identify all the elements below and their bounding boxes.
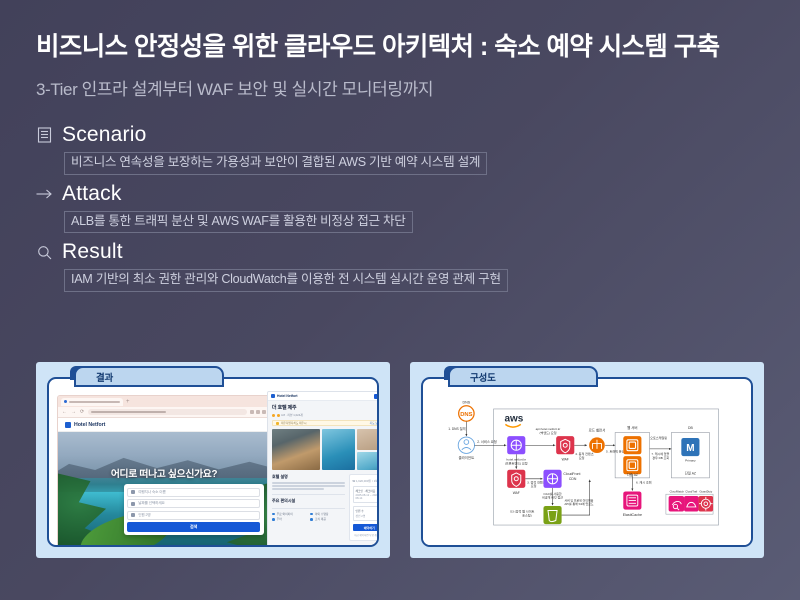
location-icon — [131, 490, 135, 494]
gallery-photo-2[interactable] — [357, 429, 377, 450]
edge-label-3b: 요청 — [531, 483, 537, 488]
panel-architecture-frame: aws DNS DNS 1. DNS 질의 클라이언트 — [421, 377, 753, 547]
amenity-item: 조식 제공 — [310, 517, 344, 521]
booking-card: ₩ 1,620,000원 / 1박 체크인 · 체크아웃 2025-08-12 … — [349, 474, 377, 541]
amenity-label: 조식 제공 — [315, 517, 326, 521]
section-attack-head: Attack — [36, 181, 800, 207]
site-header: Hotel Netfort — [58, 418, 270, 432]
waf-front-label: WAF — [513, 491, 520, 495]
panel-result-frame: + ← → ⟳ Hot — [47, 377, 379, 547]
guardduty-label: GuardDuty — [699, 489, 712, 493]
guest-field-label: 인원 수 — [356, 509, 377, 513]
browser-toolbar-icons — [250, 410, 266, 414]
detail-columns: 호텔 설명 주요 편의시설 무료 와이파 — [272, 474, 377, 541]
amenities-heading: 주요 편의시설 — [272, 498, 345, 504]
browser-tab-title — [69, 401, 120, 403]
section-attack-label: Attack — [62, 182, 122, 206]
site-logo-icon — [65, 422, 71, 428]
rating-text: 4.8 · 리뷰 1,024개 — [281, 413, 303, 417]
section-scenario-description: 비즈니스 연속성을 보장하는 가용성과 보안이 결합된 AWS 기반 예약 시스… — [64, 152, 487, 175]
hero-banner: 어디로 떠나고 싶으신가요? 여행지나 숙소 이름 날짜를 선택하세요 — [58, 432, 270, 545]
date-field-value: 2025-08-12 ~ 2025-08-14 — [356, 494, 377, 500]
overview-paragraph — [272, 482, 345, 490]
address-text: 제주특별자치도 제주시 — [281, 421, 306, 425]
slide-header: 비즈니스 안정성을 위한 클라우드 아키텍처 : 숙소 예약 시스템 구축 3-… — [0, 0, 800, 100]
date-field[interactable]: 체크인 · 체크아웃 2025-08-12 ~ 2025-08-14 — [353, 486, 377, 503]
check-icon — [272, 513, 275, 516]
panel-architecture: aws DNS DNS 1. DNS 질의 클라이언트 — [410, 362, 764, 558]
book-note: 지금 예약하면 무료 취소 가능 — [353, 533, 377, 537]
section-result-head: Result — [36, 239, 800, 265]
guest-field[interactable]: 인원 수 성인 2명 — [353, 506, 377, 521]
browser-tab[interactable] — [61, 398, 123, 406]
edge-label-1: 1. DNS 질의 — [448, 426, 465, 431]
divider — [272, 494, 345, 495]
panel-result-tab[interactable]: 결과 — [74, 366, 224, 387]
address-bar[interactable] — [88, 409, 247, 415]
panel-row: + ← → ⟳ Hot — [36, 362, 764, 558]
pin-icon — [276, 422, 279, 425]
panel-architecture-body: aws DNS DNS 1. DNS 질의 클라이언트 — [423, 389, 751, 545]
section-attack: Attack ALB를 통한 트래픽 분산 및 AWS WAF를 활용한 비정상… — [36, 181, 800, 234]
divider — [272, 508, 345, 509]
price-value: ₩ 1,620,000원 — [353, 479, 371, 483]
price: ₩ 1,620,000원 / 1박 — [353, 478, 377, 483]
cloudwatch-label: CloudWatch — [670, 489, 685, 493]
panel-architecture-tab[interactable]: 구성도 — [448, 366, 598, 387]
section-attack-description: ALB를 통한 트래픽 분산 및 AWS WAF를 활용한 비정상 접근 차단 — [64, 211, 413, 234]
amenity-item: 무료 와이파이 — [272, 512, 306, 516]
search-card: 여행지나 숙소 이름 날짜를 선택하세요 인원 2명 검색 — [124, 484, 264, 535]
profile-icon[interactable] — [262, 410, 266, 414]
waf-api-label: WAF — [562, 458, 569, 462]
dns-label: DNS — [463, 401, 471, 405]
star-icon — [272, 414, 275, 417]
detail-description-column: 호텔 설명 주요 편의시설 무료 와이파 — [272, 474, 345, 541]
overview-heading: 호텔 설명 — [272, 474, 345, 480]
upload-note-2: API를 통해 S3에 업로드 — [564, 501, 594, 506]
cdn-label: CDN — [569, 477, 577, 481]
elasticache-label: ElastiCache — [623, 513, 642, 517]
panel-architecture-tab-label: 구성도 — [470, 370, 496, 384]
section-scenario-head: Scenario — [36, 122, 800, 148]
login-button[interactable]: 로그인 — [374, 394, 377, 399]
aws-architecture-diagram: aws DNS DNS 1. DNS 질의 클라이언트 — [423, 389, 751, 545]
search-guest-placeholder: 인원 2명 — [138, 513, 150, 518]
section-scenario: Scenario 비즈니스 연속성을 보장하는 가용성과 보안이 결합된 AWS… — [36, 122, 800, 175]
edge-label-6: 6. 캐시 조회 — [636, 479, 652, 484]
db-primary-label: Primary — [685, 459, 696, 463]
browser-window: + ← → ⟳ Hot — [57, 395, 271, 545]
search-date-placeholder: 날짜를 선택하세요 — [138, 501, 165, 506]
book-button[interactable]: 예약하기 — [353, 524, 377, 531]
alb-label: 로드 밸런서 — [589, 428, 606, 433]
section-result-label: Result — [62, 240, 123, 264]
search-icon — [36, 244, 53, 261]
search-destination-input[interactable]: 여행지나 숙소 이름 — [127, 488, 260, 497]
section-result-description: IAM 기반의 최소 권한 관리와 CloudWatch를 이용한 전 시스템 … — [64, 269, 508, 292]
new-tab-button[interactable]: + — [126, 399, 130, 405]
amenity-item: 야외 수영장 — [310, 512, 344, 516]
gallery-photo-main[interactable] — [272, 429, 320, 470]
edge-label-4b: 요청 — [579, 455, 585, 460]
section-result: Result IAM 기반의 최소 권한 관리와 CloudWatch를 이용한… — [36, 239, 800, 292]
map-link[interactable]: 지도 보기 보기 — [370, 421, 377, 425]
gallery-photo-4[interactable] — [357, 452, 377, 470]
edge-label-5: 5. 트래픽 분산 — [606, 448, 625, 453]
browser-urlbar: ← → ⟳ — [58, 407, 270, 418]
section-list: Scenario 비즈니스 연속성을 보장하는 가용성과 보안이 결합된 AWS… — [36, 122, 800, 292]
calendar-icon — [131, 502, 135, 506]
extensions-icon[interactable] — [250, 410, 254, 414]
detail-brand: Hotel Netfort — [277, 394, 298, 398]
search-button[interactable]: 검색 — [127, 522, 260, 532]
nav-reload-icon[interactable]: ⟳ — [80, 409, 85, 415]
amenity-label: 야외 수영장 — [315, 512, 329, 516]
api-label-2: (백엔드) 요청 — [539, 430, 556, 435]
check-icon — [310, 518, 313, 521]
arrow-right-icon — [36, 185, 53, 202]
nav-back-icon[interactable]: ← — [62, 409, 68, 415]
panel-result: + ← → ⟳ Hot — [36, 362, 390, 558]
gallery-photo-3[interactable] — [322, 429, 355, 470]
svg-text:DNS: DNS — [460, 412, 472, 418]
address-banner: 제주특별자치도 제주시 지도 보기 보기 — [272, 420, 377, 426]
detail-main: 더 호텔 제주 4.8 · 리뷰 1,024개 제주특별자치도 제주시 지도 보… — [268, 401, 377, 545]
check-icon — [310, 513, 313, 516]
booking-column: ₩ 1,620,000원 / 1박 체크인 · 체크아웃 2025-08-12 … — [349, 474, 377, 541]
cloudfront-label: CloudFront — [563, 472, 580, 476]
aws-logo-text: aws — [504, 414, 523, 425]
web-server-label: 웹 서버 — [627, 425, 637, 430]
amenity-item: 주차 — [272, 517, 306, 521]
svg-text:M: M — [686, 443, 694, 454]
star-icon — [277, 414, 280, 417]
cloudtrail-label: CloudTrail — [685, 489, 697, 493]
panel-result-tab-label: 결과 — [96, 370, 113, 384]
hero-title: 어디로 떠나고 싶으신가요? — [58, 466, 270, 480]
bookmark-icon[interactable] — [256, 410, 260, 414]
document-icon — [36, 127, 53, 144]
amenities-list: 무료 와이파이 야외 수영장 주차 — [272, 512, 345, 522]
db-az-label: 단일 AZ — [685, 470, 696, 475]
db-label: DB — [688, 426, 693, 430]
client-label: 클라이언트 — [458, 455, 474, 460]
photo-gallery — [272, 429, 377, 470]
site-brand: Hotel Netfort — [74, 422, 105, 428]
nav-forward-icon[interactable]: → — [71, 409, 77, 415]
date-field-label: 체크인 · 체크아웃 — [356, 489, 377, 493]
search-guest-input[interactable]: 인원 2명 — [127, 511, 260, 520]
hotel-detail-page: Hotel Netfort 로그인 더 호텔 제주 4.8 · 리뷰 1,024… — [267, 391, 377, 545]
guest-field-value: 성인 2명 — [356, 514, 377, 518]
browser-tabbar: + — [58, 396, 270, 407]
edge-label-2: 2. 서비스 요청 — [477, 439, 496, 444]
check-icon — [272, 518, 275, 521]
price-unit: / 1박 — [372, 479, 377, 483]
amenity-label: 무료 와이파이 — [277, 512, 293, 516]
rating-row: 4.8 · 리뷰 1,024개 — [272, 413, 377, 417]
detail-header: Hotel Netfort 로그인 — [268, 392, 377, 401]
detail-logo-icon — [271, 394, 275, 398]
page-subtitle: 3-Tier 인프라 설계부터 WAF 보안 및 실시간 모니터링까지 — [36, 75, 800, 100]
person-icon — [131, 513, 135, 517]
amenity-label: 주차 — [277, 517, 282, 521]
favicon-icon — [64, 400, 67, 403]
page-title: 비즈니스 안정성을 위한 클라우드 아키텍처 : 숙소 예약 시스템 구축 — [36, 26, 800, 63]
section-scenario-label: Scenario — [62, 123, 146, 147]
panel-result-body: + ← → ⟳ Hot — [49, 389, 377, 545]
autoscaling-note: 오토스케일링 — [650, 435, 667, 440]
s3-label-2: 호스팅) — [522, 512, 532, 517]
edge-label-7b: 경우 DB 조회 — [652, 455, 669, 460]
search-date-input[interactable]: 날짜를 선택하세요 — [127, 499, 260, 508]
hotel-name: 더 호텔 제주 — [272, 404, 377, 411]
search-destination-placeholder: 여행지나 숙소 이름 — [138, 490, 165, 495]
